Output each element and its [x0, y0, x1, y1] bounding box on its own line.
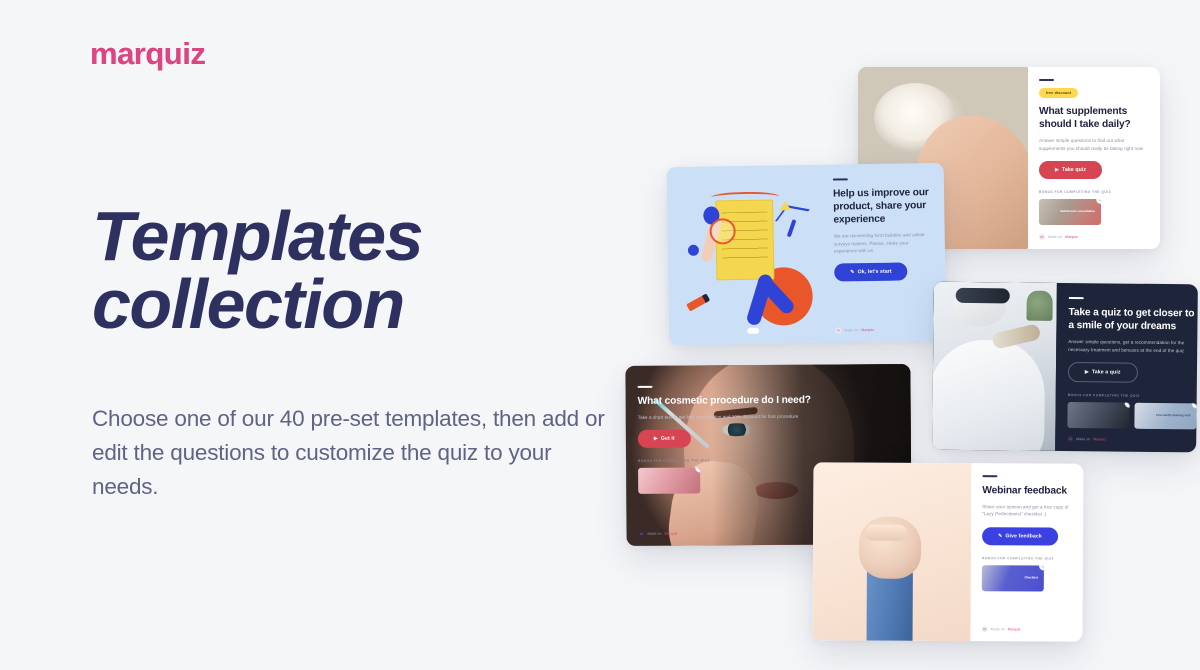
lock-icon: ⊗ [1096, 199, 1101, 204]
take-a-quiz-button-label: Take a quiz [1092, 369, 1121, 375]
made-on-link[interactable]: Marquiz [1065, 235, 1078, 239]
bonus-label: BONUS FOR COMPLETING THE QUIZ [982, 556, 1072, 560]
made-on-link[interactable]: Marquiz [665, 532, 678, 536]
orange-wave-shape [711, 191, 779, 197]
supplements-card-title: What supplements should I take daily? [1039, 105, 1149, 131]
plant-shape [1026, 291, 1052, 321]
take-a-quiz-button[interactable]: ▶ Take a quiz [1068, 362, 1138, 383]
made-on-marquiz[interactable]: m Made on Marquiz [835, 318, 934, 334]
survey-card-description: We are reinventing form builders and onl… [834, 231, 933, 255]
webinar-card-body: Webinar feedback Share your opinion and … [971, 463, 1084, 642]
give-feedback-button-label: Give feedback [1005, 533, 1042, 539]
pencil-icon: ✎ [998, 533, 1002, 539]
marquiz-badge-icon: m [639, 531, 645, 537]
take-quiz-button[interactable]: ▶ Take quiz [1039, 161, 1102, 179]
made-on-prefix: Made on [648, 532, 662, 536]
play-icon: ▶ [1055, 167, 1059, 173]
made-on-marquiz[interactable]: m Made on Marquiz [1039, 226, 1149, 240]
yellow-triangle-shape [779, 201, 791, 210]
marquiz-badge-icon: m [982, 626, 988, 632]
page-title-line2: collection [92, 271, 612, 339]
webinar-card-image [813, 462, 972, 641]
take-quiz-button-label: Take quiz [1062, 167, 1086, 173]
accent-dash [638, 386, 653, 388]
lock-icon: ⊗ [695, 468, 700, 473]
marquiz-badge-icon: m [1039, 234, 1045, 240]
made-on-prefix: Made on [1048, 235, 1062, 239]
bonus-thumbnail-1[interactable]: ⊗ [1067, 402, 1129, 429]
made-on-link[interactable]: Marquiz [1093, 437, 1106, 441]
bonus-thumbnail[interactable]: Nutritionist consultation ⊗ [1039, 199, 1101, 225]
get-it-button[interactable]: ▶ Get it [638, 430, 691, 448]
made-on-link[interactable]: Marquiz [861, 328, 874, 332]
webinar-feedback-card[interactable]: Webinar feedback Share your opinion and … [813, 462, 1084, 641]
accent-dash [1039, 79, 1054, 81]
marker-shape [686, 294, 709, 312]
dental-card-image [932, 282, 1057, 451]
get-it-button-label: Get it [661, 436, 675, 442]
cosmetic-card-title: What cosmetic procedure do I need? [638, 393, 899, 408]
bonus-thumbnail-2-label: Free teeth cleaning visit [1156, 414, 1196, 418]
start-survey-button-label: Ok, let's start [858, 269, 892, 276]
dental-card-body: Take a quiz to get closer to a smile of … [1055, 283, 1198, 452]
dental-card-description: Answer simple questions, get a recommend… [1068, 338, 1197, 354]
bonus-row: Checklist ⊗ [982, 565, 1072, 591]
made-on-prefix: Made on [991, 627, 1005, 631]
bonus-thumbnail-label: Nutritionist consultation [1060, 210, 1101, 214]
discount-badge: free discount [1039, 88, 1078, 98]
made-on-marquiz[interactable]: m Made on Marquiz [982, 618, 1072, 632]
webinar-card-title: Webinar feedback [982, 484, 1072, 498]
dental-card-title: Take a quiz to get closer to a smile of … [1068, 306, 1197, 333]
survey-card-illustration [667, 165, 830, 345]
marquiz-badge-icon: m [1067, 436, 1073, 442]
shoe-shape [747, 328, 759, 334]
pencil-icon: ✎ [850, 270, 854, 276]
lab-coat-shape [932, 340, 1045, 451]
accent-dash [833, 178, 848, 180]
bonus-thumbnail[interactable]: Checklist ⊗ [982, 565, 1044, 591]
play-icon: ▶ [654, 436, 658, 442]
bonus-thumbnail-label: Checklist [1025, 576, 1044, 580]
survey-card-body: Help us improve our product, share your … [827, 163, 947, 343]
marquiz-logo[interactable]: marquiz [90, 36, 205, 72]
made-on-marquiz[interactable]: m Made on Marquiz [1067, 428, 1196, 443]
made-on-link[interactable]: Marquiz [1008, 627, 1021, 631]
bonus-label: BONUS FOR COMPLETING THE QUIZ [1039, 190, 1149, 194]
lock-icon: ⊗ [1039, 565, 1044, 570]
made-on-prefix: Made on [844, 328, 858, 332]
product-survey-card[interactable]: Help us improve our product, share your … [667, 163, 947, 345]
supplements-card-description: Answer simple questions to find out what… [1039, 137, 1149, 152]
marquiz-badge-icon: m [835, 327, 841, 333]
accent-dash [1069, 297, 1084, 299]
lock-icon: ⊗ [1125, 402, 1130, 408]
bonus-row: Nutritionist consultation ⊗ [1039, 199, 1149, 225]
survey-card-title: Help us improve our product, share your … [833, 186, 933, 227]
goggles-shape [956, 288, 1010, 304]
bonus-row: ⊗ Free teeth cleaning visit ⊗ [1067, 402, 1196, 429]
knuckles-shape [865, 525, 907, 541]
give-feedback-button[interactable]: ✎ Give feedback [982, 527, 1058, 545]
page-subtitle: Choose one of our 40 pre-set templates, … [92, 402, 612, 505]
cosmetic-card-description: Take a short test to get free consultati… [638, 412, 899, 421]
dental-quiz-card[interactable]: Take a quiz to get closer to a smile of … [932, 282, 1198, 453]
blue-dot-shape [688, 245, 699, 256]
bonus-label: BONUS FOR COMPLETING THE QUIZ [1068, 393, 1197, 398]
bonus-thumbnail-2[interactable]: Free teeth cleaning visit ⊗ [1134, 403, 1196, 430]
landing-page: marquiz Templates collection Choose one … [0, 0, 1200, 670]
webinar-card-description: Share your opinion and get a free copy o… [982, 503, 1072, 518]
lock-icon: ⊗ [1192, 403, 1197, 409]
start-survey-button[interactable]: ✎ Ok, let's start [834, 263, 908, 282]
play-icon: ▶ [1085, 369, 1089, 375]
made-on-prefix: Made on [1076, 437, 1090, 441]
bonus-thumbnail[interactable]: ⊗ [638, 468, 700, 494]
page-title-line1: Templates [92, 197, 422, 275]
accent-dash [982, 475, 997, 477]
page-title: Templates collection [92, 203, 612, 339]
supplements-card-body: free discount What supplements should I … [1028, 67, 1160, 249]
